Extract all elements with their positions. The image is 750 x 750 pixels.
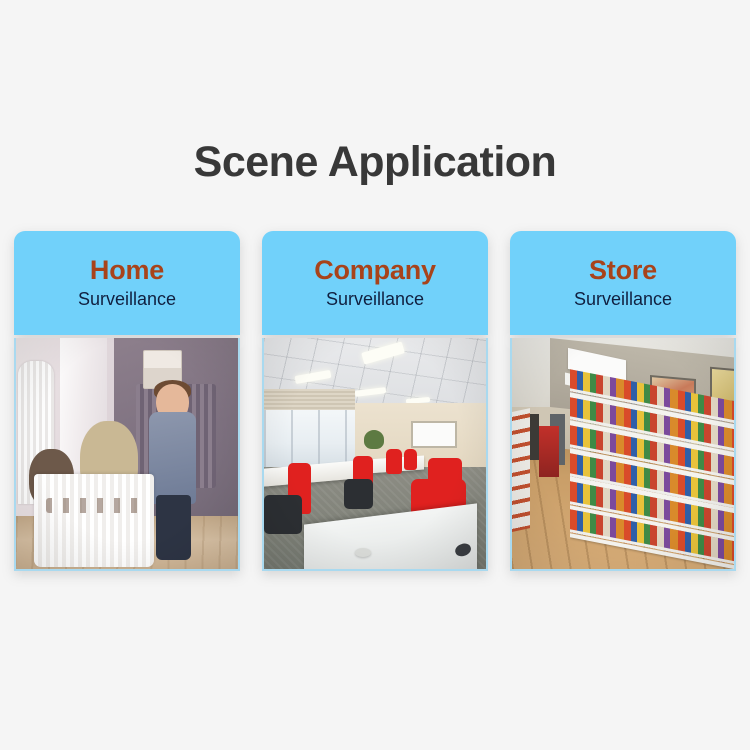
potted-plant — [364, 430, 384, 448]
scene-card-home[interactable]: Home Surveillance — [14, 231, 240, 576]
red-chair-3 — [386, 449, 402, 474]
scene-cards-row: Home Surveillance — [14, 231, 736, 576]
red-chair-4 — [404, 449, 417, 470]
toddler-body — [149, 412, 196, 504]
card-subtitle-company: Surveillance — [262, 287, 488, 311]
card-photo-frame-store — [510, 338, 736, 571]
wall-whiteboard — [411, 421, 457, 448]
card-header-company: Company Surveillance — [262, 231, 488, 335]
home-nursery-toddler-photo — [16, 338, 238, 569]
window-blinds — [264, 389, 355, 410]
scene-card-store[interactable]: Store Surveillance — [510, 231, 736, 576]
toddler-legs — [156, 495, 192, 560]
black-chair-1 — [264, 495, 302, 534]
card-photo-frame-home — [14, 338, 240, 571]
card-subtitle-home: Surveillance — [14, 287, 240, 311]
office-open-plan-photo — [264, 338, 486, 569]
card-title-company: Company — [262, 255, 488, 286]
left-shelf-unit — [512, 408, 530, 532]
store-grocery-aisle-photo — [512, 338, 734, 569]
card-photo-frame-company — [262, 338, 488, 571]
endcap-display — [539, 426, 559, 477]
card-title-store: Store — [510, 255, 736, 286]
grocery-shelf-unit — [570, 365, 734, 569]
black-chair-2 — [344, 479, 373, 509]
card-header-home: Home Surveillance — [14, 231, 240, 335]
scene-card-company[interactable]: Company Surveillance — [262, 231, 488, 576]
card-title-home: Home — [14, 255, 240, 286]
white-toy-cart — [34, 474, 154, 566]
page-title: Scene Application — [0, 136, 750, 188]
cart-heart-cutouts — [46, 498, 142, 513]
card-subtitle-store: Surveillance — [510, 287, 736, 311]
card-header-store: Store Surveillance — [510, 231, 736, 335]
